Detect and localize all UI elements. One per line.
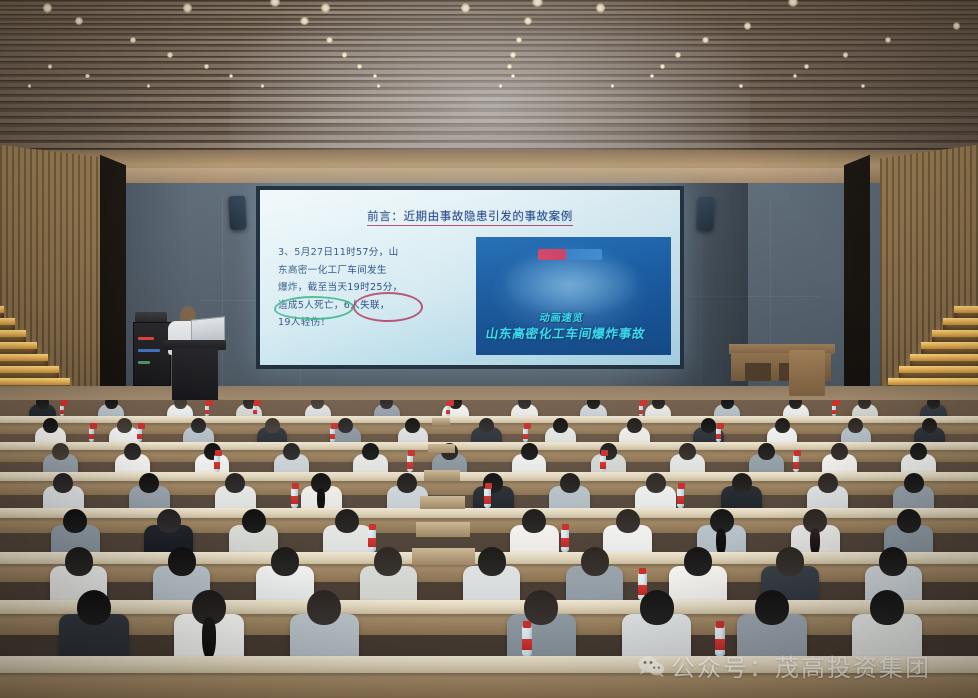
projection-screen: 前言：近期由事故隐患引发的事故案例 3、5月27日11时57分，山 东高密一化工… bbox=[260, 190, 680, 365]
bottle-cap bbox=[292, 484, 297, 489]
audience-member-head bbox=[43, 418, 58, 433]
audience-member-head bbox=[616, 509, 640, 533]
aisle-step bbox=[424, 470, 460, 481]
bottle-label bbox=[214, 462, 220, 469]
slide-line: 东高密一化工厂车间发生 bbox=[278, 262, 468, 280]
ceiling-downlight bbox=[675, 52, 681, 58]
av-led bbox=[138, 361, 150, 364]
ceiling-downlight bbox=[861, 84, 864, 87]
water-bottle bbox=[600, 455, 606, 472]
bottle-label bbox=[522, 639, 532, 650]
aisle-step bbox=[432, 418, 450, 425]
ceiling-downlight bbox=[744, 22, 751, 29]
bottle-label bbox=[407, 462, 413, 469]
aisle-step bbox=[428, 444, 455, 453]
audience-member-head bbox=[265, 418, 280, 433]
ceiling-downlight bbox=[739, 84, 742, 87]
bottle-label bbox=[639, 410, 643, 414]
audience-member-head bbox=[679, 443, 696, 460]
bottle-label bbox=[793, 462, 799, 469]
ceiling-downlight bbox=[167, 52, 173, 58]
audience-member-head bbox=[65, 547, 93, 576]
aisle-step bbox=[412, 548, 475, 565]
audience-member-head bbox=[581, 547, 609, 576]
water-bottle bbox=[330, 428, 335, 442]
water-bottle bbox=[793, 455, 799, 472]
ceiling-downlight bbox=[510, 52, 516, 58]
slide-video-thumbnail: 动画速览 山东高密化工车间爆炸事故 bbox=[476, 237, 671, 355]
audience-member-head bbox=[818, 473, 838, 493]
audience-member-head bbox=[52, 443, 69, 460]
water-bottle bbox=[291, 488, 298, 508]
audience-member-head bbox=[560, 473, 580, 493]
stair-step-light bbox=[0, 306, 4, 313]
ceiling-downlight bbox=[953, 22, 960, 29]
ceiling-downlight bbox=[321, 3, 330, 12]
water-bottle bbox=[205, 405, 209, 416]
bottle-cap bbox=[446, 403, 449, 406]
audience-member-head bbox=[553, 418, 568, 433]
desk-surface bbox=[0, 600, 978, 614]
bottle-cap bbox=[523, 621, 531, 628]
auditorium-photo: 前言：近期由事故隐患引发的事故案例 3、5月27日11时57分，山 东高密一化工… bbox=[0, 0, 978, 698]
stair-step-light bbox=[954, 306, 978, 313]
audience-member-head bbox=[904, 473, 924, 493]
audience-member-head bbox=[524, 590, 558, 625]
broadcaster-logo bbox=[538, 249, 602, 260]
bottle-label bbox=[600, 462, 606, 469]
audience-member-head bbox=[271, 547, 299, 576]
audience-member-head bbox=[910, 443, 927, 460]
audience-member-head bbox=[646, 473, 666, 493]
audience-member-head bbox=[157, 509, 181, 533]
bottle-label bbox=[446, 410, 450, 414]
ceiling-downlight bbox=[377, 84, 380, 87]
water-bottle bbox=[522, 626, 532, 656]
bottle-cap bbox=[716, 621, 724, 628]
stair-step-light bbox=[932, 330, 978, 337]
bottle-cap bbox=[60, 403, 63, 406]
water-bottle bbox=[214, 455, 220, 472]
audience-member-head bbox=[870, 590, 904, 625]
ceiling-downlight bbox=[511, 74, 515, 78]
water-bottle bbox=[484, 488, 491, 508]
water-bottle bbox=[677, 488, 684, 508]
audience-member-head bbox=[732, 473, 752, 493]
water-bottle bbox=[716, 428, 721, 442]
bench-opening bbox=[745, 363, 771, 381]
watermark: 公众号：茂高投资集团 bbox=[638, 648, 931, 683]
desk-surface bbox=[0, 508, 978, 518]
bottle-cap bbox=[369, 524, 375, 529]
av-equipment-rack bbox=[133, 322, 171, 386]
ceiling-downlight bbox=[702, 37, 709, 44]
av-led bbox=[138, 349, 160, 352]
bottle-label bbox=[137, 434, 142, 439]
bottle-cap bbox=[215, 452, 220, 456]
audience-member-head bbox=[755, 590, 789, 625]
bottle-cap bbox=[794, 452, 799, 456]
stair-step-light bbox=[0, 366, 59, 373]
water-bottle bbox=[446, 405, 450, 416]
bottle-label bbox=[561, 538, 569, 547]
ceiling bbox=[0, 0, 978, 172]
bottle-label bbox=[484, 496, 491, 504]
wall-speaker-left bbox=[228, 196, 247, 231]
stair-step-light bbox=[0, 342, 37, 349]
bottle-cap bbox=[485, 484, 490, 489]
ceiling-downlight bbox=[75, 17, 83, 25]
bottle-cap bbox=[717, 425, 721, 428]
ceiling-glow bbox=[230, 0, 750, 172]
water-bottle bbox=[639, 405, 643, 416]
audience-member-head bbox=[77, 590, 111, 625]
audience-member-head bbox=[879, 547, 907, 576]
bottle-label bbox=[523, 434, 528, 439]
thumbnail-caption-main: 山东高密化工车间爆炸事故 bbox=[484, 323, 647, 342]
stair-step-light bbox=[888, 378, 978, 385]
stair-step-light bbox=[921, 342, 978, 349]
audience-member-head bbox=[640, 590, 674, 625]
bottle-cap bbox=[408, 452, 413, 456]
aisle-step bbox=[420, 496, 465, 509]
audience-member-head bbox=[117, 418, 132, 433]
ceiling-downlight bbox=[326, 37, 333, 44]
bottle-label bbox=[716, 434, 721, 439]
audience-member-head bbox=[362, 443, 379, 460]
bottle-cap bbox=[639, 403, 642, 406]
bottle-label bbox=[205, 410, 209, 414]
audience-member-ponytail bbox=[202, 617, 216, 659]
ceiling-downlight bbox=[596, 3, 605, 12]
bottle-label bbox=[330, 434, 335, 439]
lectern bbox=[172, 348, 218, 404]
bottle-cap bbox=[90, 425, 94, 428]
audience-member-head bbox=[897, 509, 921, 533]
water-bottle bbox=[253, 405, 257, 416]
audience-member-head bbox=[684, 547, 712, 576]
stair-step-light bbox=[0, 318, 15, 325]
bottle-cap bbox=[678, 484, 683, 489]
water-bottle bbox=[137, 428, 142, 442]
audience-member-head bbox=[397, 473, 417, 493]
audience-member-head bbox=[283, 443, 300, 460]
ceiling-downlight bbox=[499, 84, 502, 87]
stair-step-light bbox=[0, 330, 26, 337]
ceiling-downlight bbox=[300, 17, 308, 25]
ceiling-downlight bbox=[461, 3, 470, 12]
stair-step-light bbox=[899, 366, 978, 373]
bottle-cap bbox=[205, 403, 208, 406]
audience-member-head bbox=[191, 418, 206, 433]
ceiling-downlight bbox=[43, 3, 52, 12]
stair-step-light bbox=[910, 354, 978, 361]
ceiling-downlight bbox=[843, 52, 849, 58]
bottle-label bbox=[60, 410, 64, 414]
audience-member-head bbox=[374, 547, 402, 576]
audience-member-head bbox=[776, 547, 804, 576]
ceiling-downlight bbox=[650, 74, 654, 78]
audience-member-head bbox=[242, 509, 266, 533]
stair-step-light bbox=[943, 318, 978, 325]
slide-title-text: 前言：近期由事故隐患引发的事故案例 bbox=[367, 209, 573, 226]
projection-screen-frame: 前言：近期由事故隐患引发的事故案例 3、5月27日11时57分，山 东高密一化工… bbox=[256, 186, 684, 369]
aisle-step bbox=[416, 522, 470, 537]
wall-seam bbox=[222, 196, 223, 406]
thumbnail-caption-top: 动画速览 bbox=[539, 309, 585, 324]
stage-bench-side-panel bbox=[789, 350, 825, 396]
av-led bbox=[138, 337, 154, 340]
bottle-cap bbox=[562, 524, 568, 529]
red-circle-annotation bbox=[353, 292, 423, 322]
slide-title: 前言：近期由事故隐患引发的事故案例 bbox=[260, 208, 680, 224]
bottle-cap bbox=[331, 425, 335, 428]
audience-member-head bbox=[831, 443, 848, 460]
audience-member-head bbox=[307, 590, 341, 625]
wechat-icon bbox=[638, 655, 664, 677]
audience-member-head bbox=[521, 443, 538, 460]
stair-step-light bbox=[0, 354, 48, 361]
water-bottle bbox=[368, 529, 376, 552]
slide-line: 3、5月27日11时57分，山 bbox=[278, 244, 468, 262]
water-bottle bbox=[561, 529, 569, 552]
desk-front-panel bbox=[0, 614, 978, 635]
audience-member-head bbox=[478, 547, 506, 576]
stair-step-light bbox=[0, 378, 70, 385]
ceiling-downlight bbox=[28, 84, 31, 87]
bottle-label bbox=[253, 410, 257, 414]
bottle-label bbox=[89, 434, 94, 439]
audience-member-head bbox=[335, 509, 359, 533]
watermark-text: 公众号：茂高投资集团 bbox=[671, 648, 931, 683]
ceiling-downlight bbox=[85, 74, 89, 78]
ceiling-downlight bbox=[183, 3, 192, 12]
ceiling-downlight bbox=[204, 64, 209, 69]
bottle-label bbox=[291, 496, 298, 504]
audience-member-head bbox=[627, 418, 642, 433]
water-bottle bbox=[832, 405, 836, 416]
bottle-label bbox=[368, 538, 376, 547]
ceiling-downlight bbox=[261, 84, 264, 87]
water-bottle bbox=[89, 428, 94, 442]
explosion-smoke-graphic bbox=[506, 253, 636, 315]
water-bottle bbox=[523, 428, 528, 442]
water-bottle bbox=[60, 405, 64, 416]
wall-speaker-right bbox=[696, 197, 715, 232]
bottle-cap bbox=[524, 425, 528, 428]
audience-member-head bbox=[775, 418, 790, 433]
bottle-cap bbox=[832, 403, 835, 406]
audience-member-head bbox=[168, 547, 196, 576]
bottle-cap bbox=[601, 452, 606, 456]
audience-member-head bbox=[701, 418, 716, 433]
bottle-cap bbox=[138, 425, 142, 428]
bottle-cap bbox=[253, 403, 256, 406]
water-bottle bbox=[407, 455, 413, 472]
bottle-label bbox=[677, 496, 684, 504]
bottle-cap bbox=[639, 568, 646, 574]
bottle-label bbox=[832, 410, 836, 414]
